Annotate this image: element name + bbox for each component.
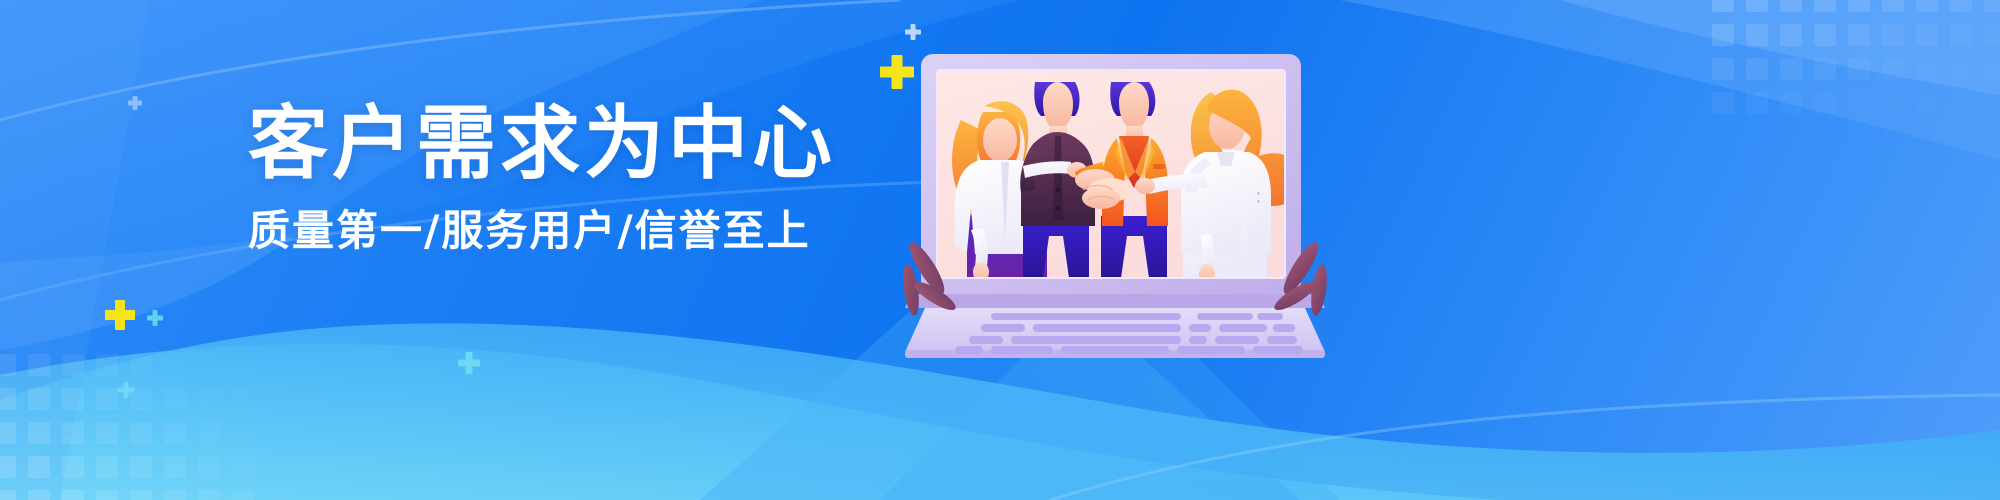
decor-dot: [1916, 58, 1938, 80]
decor-dot: [1814, 58, 1836, 80]
decor-dot: [0, 388, 16, 410]
decor-dot: [130, 354, 152, 376]
plus-white-tiny-left-icon: [128, 96, 142, 110]
banner-copy: 客户需求为中心 质量第一/服务用户/信誉至上: [248, 104, 888, 252]
decor-dot: [232, 354, 254, 376]
plus-cyan-mid-bottom-icon: [458, 352, 480, 374]
page-title: 客户需求为中心: [248, 104, 888, 184]
decor-dot: [1780, 92, 1802, 114]
decor-dot: [1746, 0, 1768, 12]
decor-dot: [1814, 24, 1836, 46]
decor-dot: [96, 456, 118, 478]
decor-dot: [1712, 0, 1734, 12]
decor-dot: [198, 354, 220, 376]
decor-dot: [1746, 58, 1768, 80]
decor-dot: [1780, 0, 1802, 12]
decor-dot: [164, 354, 186, 376]
decor-dot: [1848, 92, 1870, 114]
decor-dot: [62, 490, 84, 500]
decor-dot: [232, 422, 254, 444]
decor-dot: [1916, 24, 1938, 46]
decor-dot: [1712, 58, 1734, 80]
decor-dot: [1984, 0, 2000, 12]
decor-dot: [1712, 92, 1734, 114]
decor-dot: [1950, 24, 1972, 46]
decor-dot: [28, 456, 50, 478]
decor-dot: [198, 456, 220, 478]
decor-dot: [198, 422, 220, 444]
decor-dot: [164, 388, 186, 410]
decor-dot: [96, 388, 118, 410]
decor-dot: [1882, 0, 1904, 12]
plus-cyan-faint-bottom-icon: [118, 382, 134, 398]
decor-dot: [0, 456, 16, 478]
decor-dot: [96, 422, 118, 444]
plus-white-small-top-icon: [905, 24, 921, 40]
decor-dot: [1916, 0, 1938, 12]
decor-dot: [0, 422, 16, 444]
decor-dot: [130, 422, 152, 444]
decor-dot: [1950, 58, 1972, 80]
decor-dot: [62, 388, 84, 410]
decor-dot: [1916, 92, 1938, 114]
dot-grid-bottom-left: [0, 322, 294, 500]
decor-dot: [96, 490, 118, 500]
decor-dot: [28, 490, 50, 500]
decor-dot: [198, 490, 220, 500]
decor-dot: [0, 490, 16, 500]
decor-dot: [1814, 92, 1836, 114]
decor-dot: [62, 456, 84, 478]
laptop-hinge: [905, 294, 1325, 308]
decor-dot: [232, 456, 254, 478]
decor-dot: [232, 388, 254, 410]
decor-dot: [1780, 58, 1802, 80]
decor-dot: [96, 354, 118, 376]
decor-dot: [1848, 24, 1870, 46]
decor-dot: [1746, 24, 1768, 46]
decor-dot: [28, 354, 50, 376]
decor-dot: [1882, 92, 1904, 114]
decor-dot: [1746, 92, 1768, 114]
decor-dot: [28, 388, 50, 410]
decor-dot: [1882, 58, 1904, 80]
decor-dot: [232, 490, 254, 500]
decor-dot: [28, 422, 50, 444]
marketing-banner: 客户需求为中心 质量第一/服务用户/信誉至上: [0, 0, 2000, 500]
decor-dot: [1984, 58, 2000, 80]
decor-dot: [164, 422, 186, 444]
decor-dot: [164, 456, 186, 478]
plus-yellow-large-bottom-icon: [105, 300, 135, 330]
decor-dot: [1814, 0, 1836, 12]
decor-dot: [62, 354, 84, 376]
decor-dot: [0, 354, 16, 376]
page-subtitle: 质量第一/服务用户/信誉至上: [248, 210, 888, 252]
decor-dot: [1848, 58, 1870, 80]
decor-dot: [1950, 0, 1972, 12]
decor-dot: [1780, 24, 1802, 46]
decor-dot: [1848, 0, 1870, 12]
decor-dot: [62, 422, 84, 444]
decor-dot: [1984, 92, 2000, 114]
laptop-illustration: [905, 40, 1325, 360]
decor-dot: [164, 490, 186, 500]
decor-dot: [198, 388, 220, 410]
decor-dot: [130, 456, 152, 478]
plus-cyan-small-bottom-icon: [147, 310, 163, 326]
dot-grid-top-right: [1666, 0, 2000, 140]
decor-dot: [1882, 24, 1904, 46]
decor-dot: [130, 490, 152, 500]
decor-dot: [1984, 24, 2000, 46]
decor-dot: [1950, 92, 1972, 114]
decor-dot: [1712, 24, 1734, 46]
